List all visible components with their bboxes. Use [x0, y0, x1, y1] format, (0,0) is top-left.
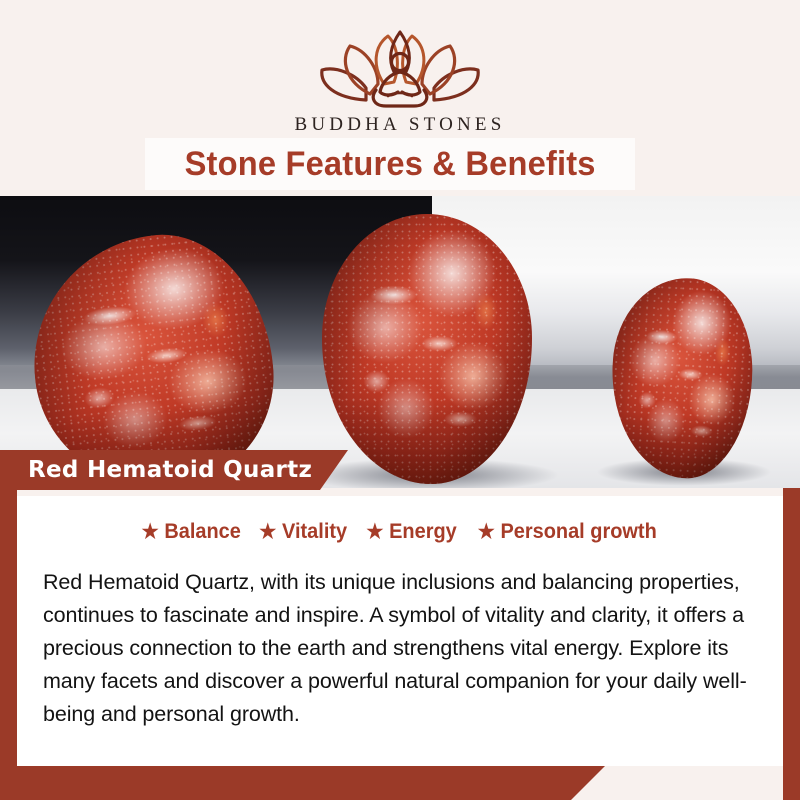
frame-bottom-bar — [0, 766, 605, 800]
product-name: Red Hematoid Quartz — [28, 457, 312, 483]
quartz-stone-left — [21, 224, 284, 488]
stone-shading — [607, 274, 757, 481]
lotus-meditation-icon — [314, 26, 486, 110]
benefit-item: ★Personal growth — [477, 520, 656, 544]
title-plaque: Stone Features & Benefits — [145, 138, 635, 190]
quartz-stone-right — [607, 274, 757, 481]
content-panel: ★Balance★Vitality★Energy★Personal growth… — [17, 496, 783, 766]
product-photo — [0, 196, 800, 488]
brand-logo: BUDDHA STONES — [0, 26, 800, 136]
stone-shading — [21, 224, 284, 488]
star-icon: ★ — [141, 522, 158, 542]
benefit-label: Balance — [164, 520, 241, 544]
benefit-label: Vitality — [282, 520, 347, 544]
product-name-banner: Red Hematoid Quartz — [0, 450, 348, 490]
benefits-list: ★Balance★Vitality★Energy★Personal growth — [29, 520, 771, 544]
benefit-item: ★Vitality — [260, 520, 348, 544]
brand-name: BUDDHA STONES — [294, 114, 505, 136]
star-icon: ★ — [366, 522, 383, 542]
star-icon: ★ — [260, 522, 277, 542]
page-title: Stone Features & Benefits — [184, 145, 595, 184]
benefit-label: Energy — [389, 520, 457, 544]
benefit-item: ★Energy — [366, 520, 456, 544]
quartz-stone-center — [322, 214, 532, 484]
benefit-label: Personal growth — [500, 520, 656, 544]
description-text: Red Hematoid Quartz, with its unique inc… — [29, 566, 771, 731]
star-icon: ★ — [477, 522, 494, 542]
infographic-page: BUDDHA STONES Stone Features & Benefits — [0, 0, 800, 800]
stone-shading — [322, 214, 532, 484]
benefit-item: ★Balance — [141, 520, 240, 544]
